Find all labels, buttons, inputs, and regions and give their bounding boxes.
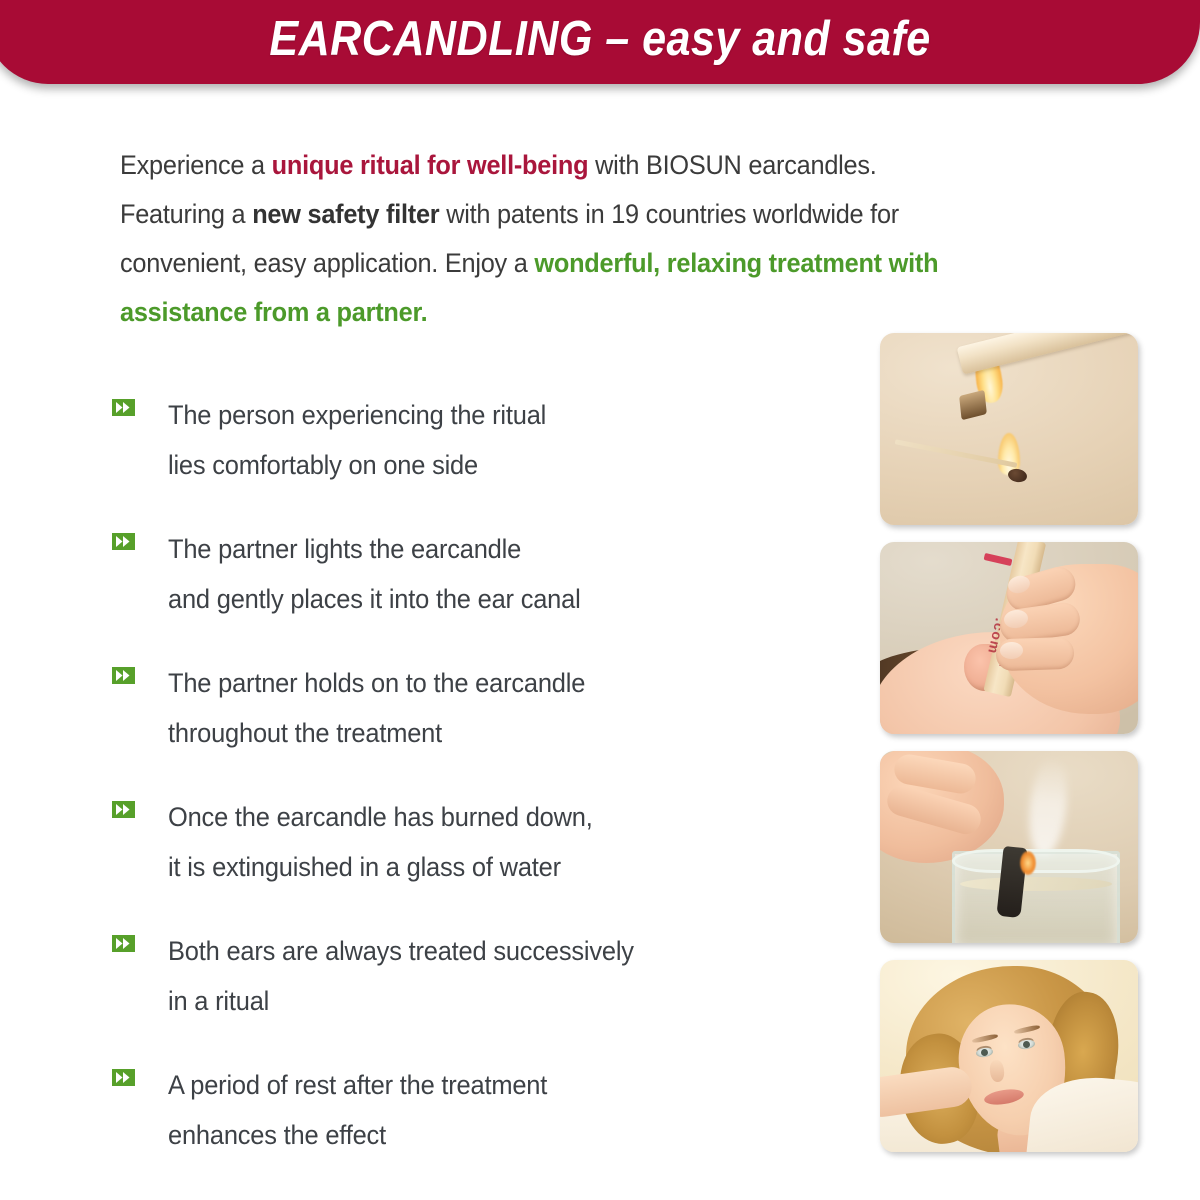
- double-chevron-right-icon: [112, 667, 135, 684]
- intro-highlight-unique-ritual: unique ritual for well-being: [272, 150, 589, 180]
- list-item-label: The partner holds on to the earcandle th…: [168, 658, 585, 758]
- photo-lighting-earcandle: [880, 333, 1138, 525]
- list-item: Once the earcandle has burned down, it i…: [112, 792, 852, 892]
- steps-list: The person experiencing the ritual lies …: [112, 390, 852, 1194]
- intro-segment-1: Experience a: [120, 150, 272, 180]
- header-banner: EARCANDLING – easy and safe: [0, 0, 1200, 84]
- double-chevron-right-icon: [112, 935, 135, 952]
- list-item-label: The person experiencing the ritual lies …: [168, 390, 546, 490]
- list-item-label: The partner lights the earcandle and gen…: [168, 524, 581, 624]
- double-chevron-right-icon: [112, 533, 135, 550]
- poster-page: EARCANDLING – easy and safe Experience a…: [0, 0, 1200, 1200]
- list-item: The person experiencing the ritual lies …: [112, 390, 852, 490]
- intro-paragraph: Experience a unique ritual for well-bein…: [120, 141, 984, 337]
- intro-highlight-safety-filter: new safety filter: [252, 199, 439, 229]
- list-item-label: A period of rest after the treatment enh…: [168, 1060, 547, 1160]
- list-item-label: Both ears are always treated successivel…: [168, 926, 634, 1026]
- photo-relaxed-woman: [880, 960, 1138, 1152]
- list-item: Both ears are always treated successivel…: [112, 926, 852, 1026]
- list-item: The partner lights the earcandle and gen…: [112, 524, 852, 624]
- double-chevron-right-icon: [112, 1069, 135, 1086]
- double-chevron-right-icon: [112, 399, 135, 416]
- photo-column: BIOSUN .com N .com: [880, 333, 1138, 1169]
- photo-candle-in-ear: BIOSUN .com: [880, 542, 1138, 734]
- list-item-label: Once the earcandle has burned down, it i…: [168, 792, 593, 892]
- list-item: The partner holds on to the earcandle th…: [112, 658, 852, 758]
- double-chevron-right-icon: [112, 801, 135, 818]
- list-item: A period of rest after the treatment enh…: [112, 1060, 852, 1160]
- photo-extinguish-in-water: N .com: [880, 751, 1138, 943]
- page-title: EARCANDLING – easy and safe: [59, 0, 1127, 84]
